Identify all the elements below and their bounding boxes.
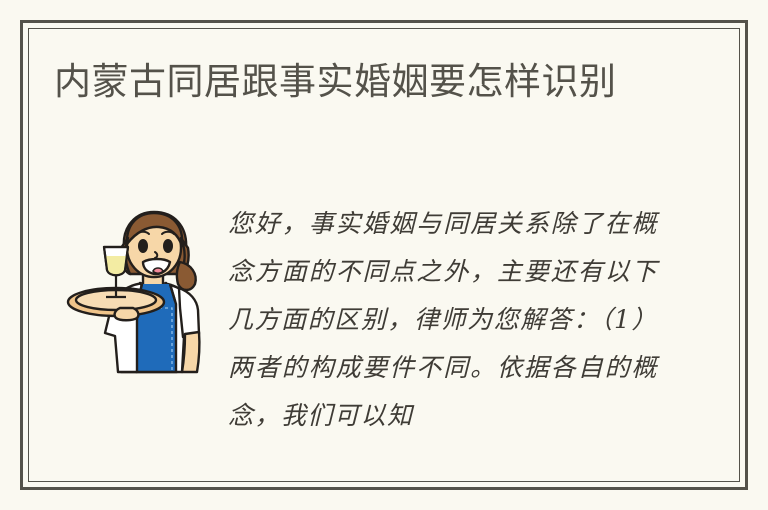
card-content: 内蒙古同居跟事实婚姻要怎样识别 [28,28,740,482]
page-title: 内蒙古同居跟事实婚姻要怎样识别 [54,56,654,108]
waitress-with-tray-icon [58,204,208,384]
article-card: 内蒙古同居跟事实婚姻要怎样识别 [0,0,768,510]
answer-row: 您好，事实婚姻与同居关系除了在概念方面的不同点之外，主要还有以下几方面的区别，律… [28,196,740,436]
answer-body-text: 您好，事实婚姻与同居关系除了在概念方面的不同点之外，主要还有以下几方面的区别，律… [228,200,658,440]
